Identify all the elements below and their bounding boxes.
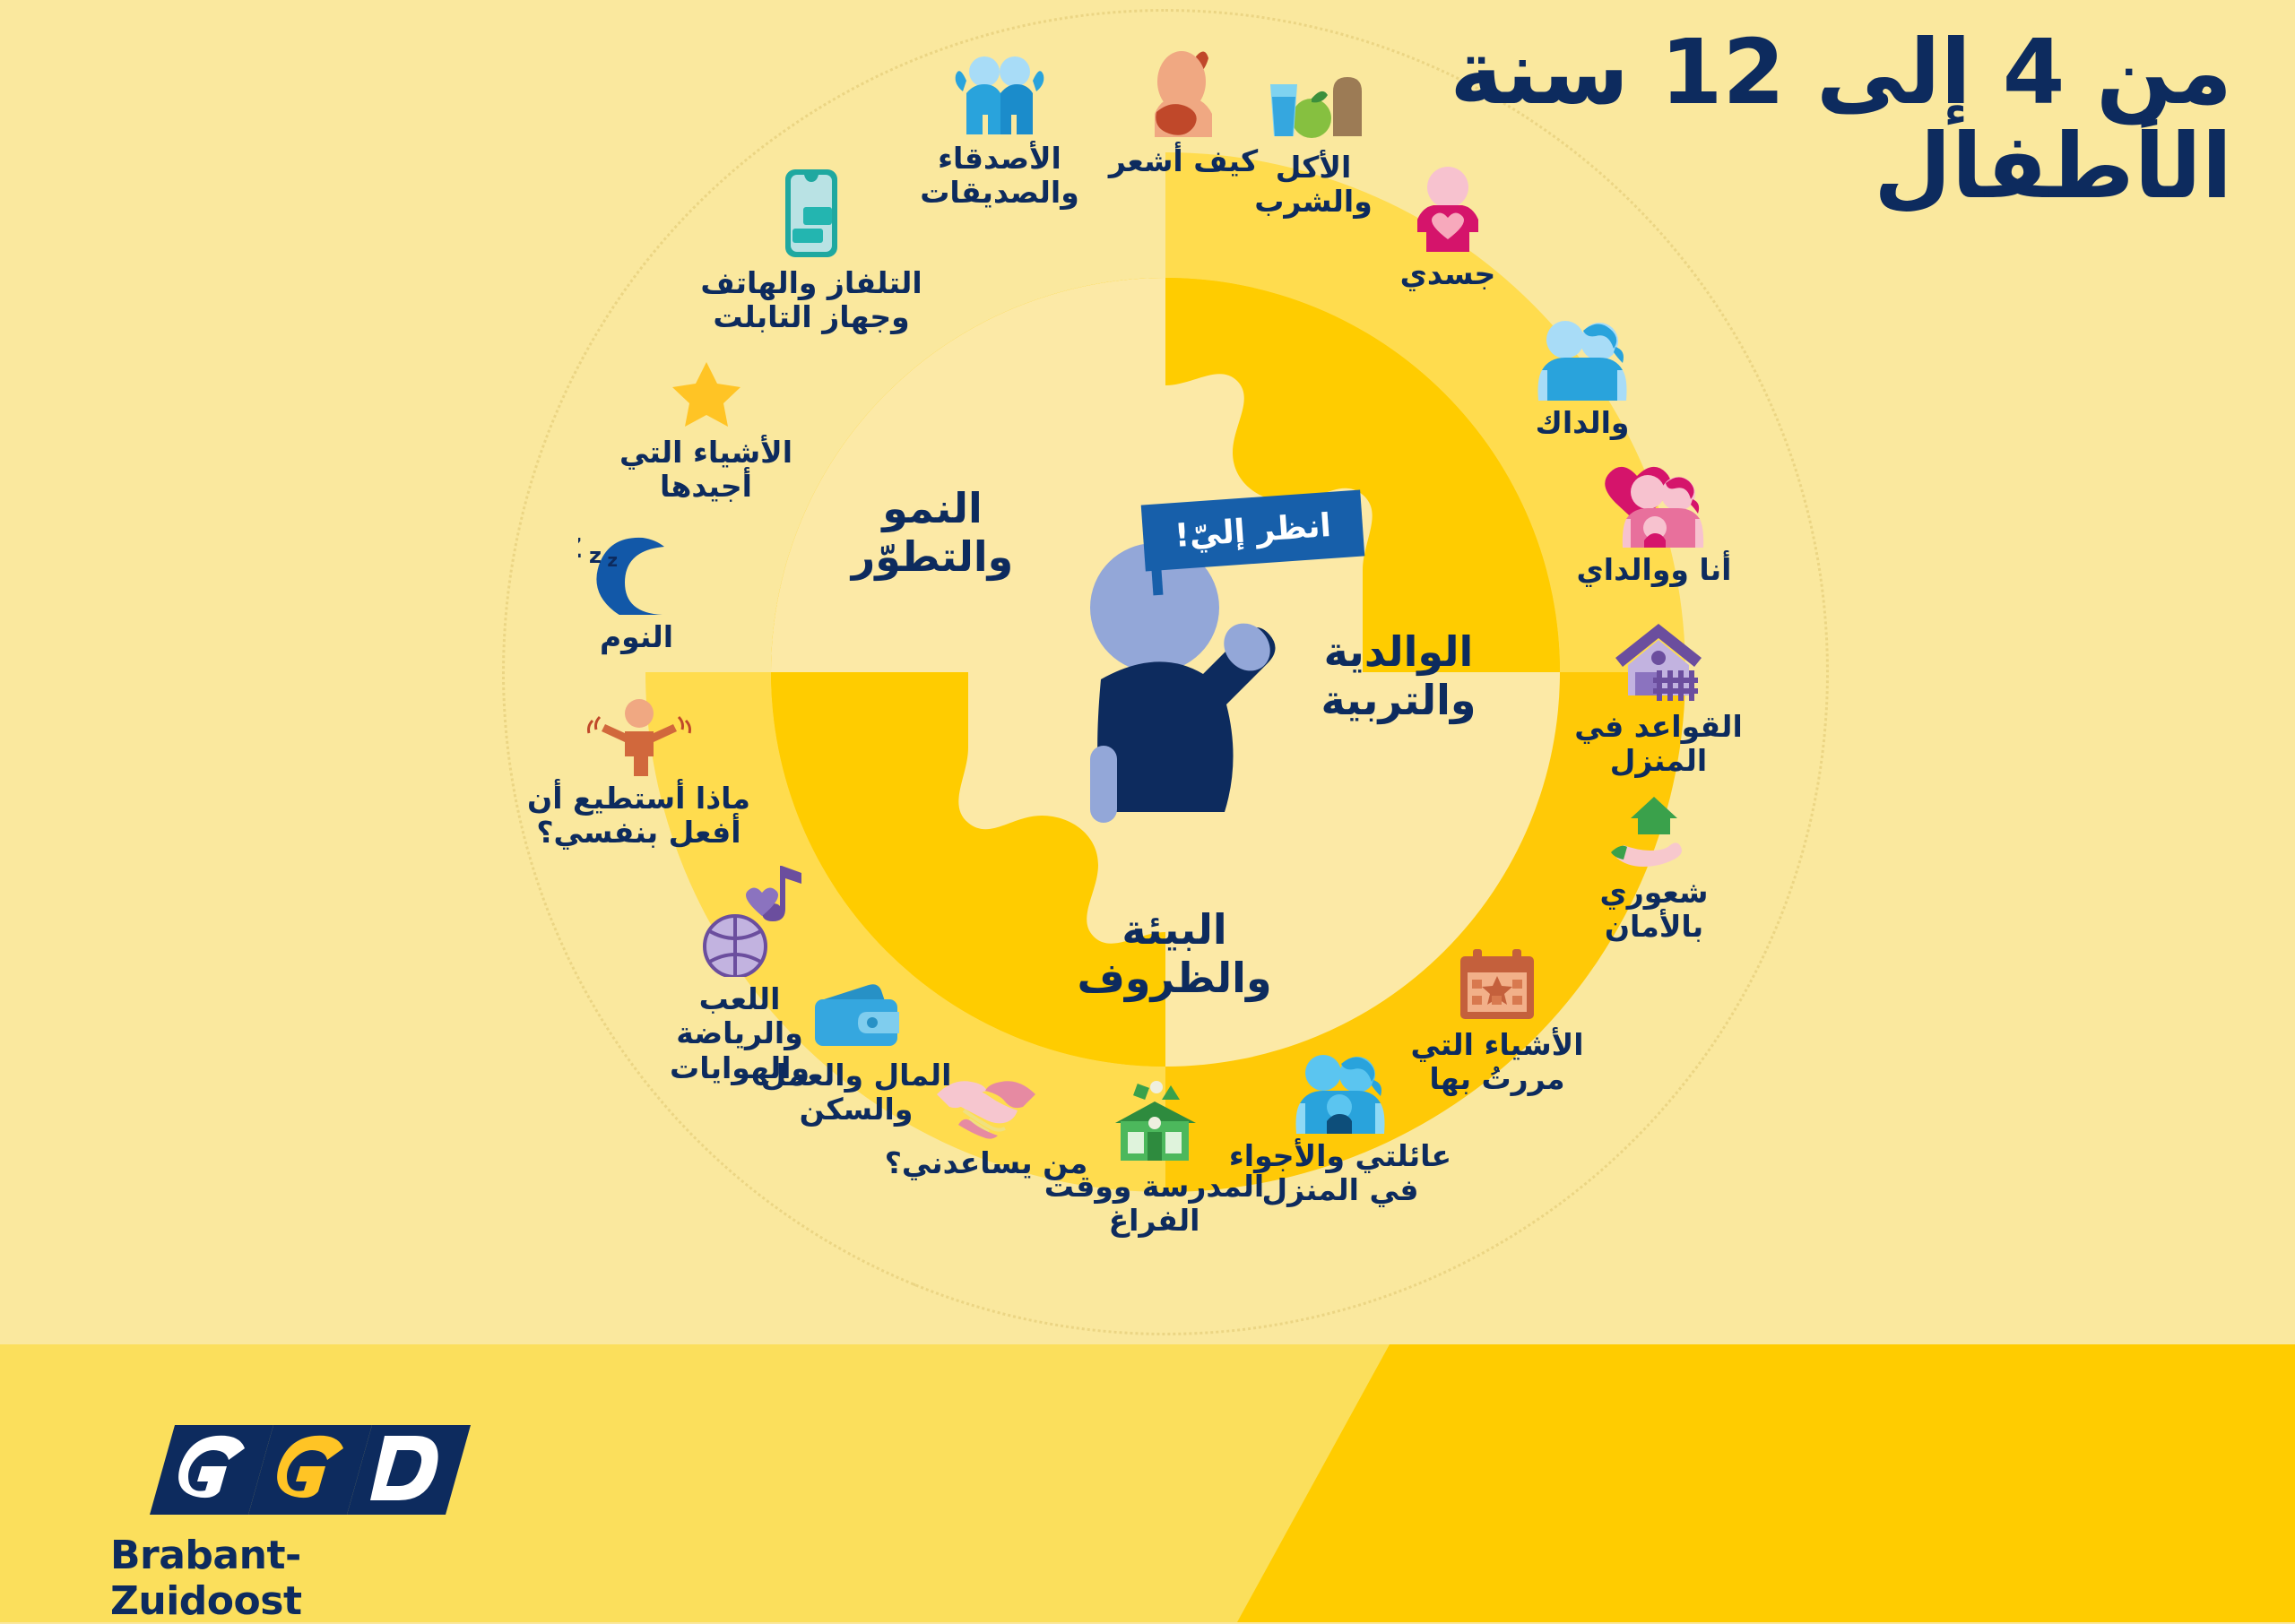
logo-subtitle: Brabant-Zuidoost bbox=[85, 1533, 471, 1624]
spoke-home-rules: القواعد في المنزل bbox=[1524, 618, 1793, 779]
spoke-label: القواعد في المنزل bbox=[1524, 710, 1793, 779]
parents-icon bbox=[1529, 318, 1635, 401]
svg-text:Z: Z bbox=[578, 533, 582, 565]
footer-title: من 4 إلى 12 سنة الأطفال bbox=[905, 25, 2232, 213]
spoke-sleep: Z z z النوم bbox=[551, 529, 722, 654]
family-heart-icon bbox=[1596, 462, 1712, 548]
spoke-safety: شعوري بالأمان bbox=[1560, 793, 1748, 945]
school-icon bbox=[1108, 1080, 1201, 1164]
house-fence-icon bbox=[1612, 618, 1705, 704]
ball-music-heart-icon bbox=[672, 860, 807, 977]
spoke-me-parents: أنا ووالداي bbox=[1551, 462, 1757, 587]
spoke-good-at: الأشياء التي أجيدها bbox=[592, 358, 820, 505]
child-arms-icon bbox=[585, 699, 693, 776]
quadrant-title-environment: البيئة والظروف bbox=[1031, 905, 1318, 1003]
spoke-label: النوم bbox=[600, 620, 673, 654]
moon-zzz-icon: Z z z bbox=[578, 529, 695, 615]
quadrant-title-growth: النمو والتطوّر bbox=[798, 484, 1067, 582]
calendar-star-icon bbox=[1455, 946, 1539, 1023]
spoke-label: اللعب والرياضة والهوايات bbox=[670, 982, 810, 1085]
spoke-label: جسدي bbox=[1400, 257, 1496, 291]
spoke-label: الأشياء التي أجيدها bbox=[619, 436, 792, 505]
spoke-self-do: ماذا أستطيع أن أفعل بنفسي؟ bbox=[507, 699, 771, 851]
spoke-label: ماذا أستطيع أن أفعل بنفسي؟ bbox=[527, 782, 750, 851]
spoke-label: أنا ووالداي bbox=[1577, 553, 1732, 587]
spoke-label: من يساعدني؟ bbox=[885, 1146, 1088, 1180]
tablet-phone-icon bbox=[782, 166, 841, 261]
infographic-canvas: النمو والتطوّر الوالدية والتربية البيئة … bbox=[0, 0, 2295, 1622]
family-three-icon bbox=[1287, 1053, 1393, 1134]
svg-text:z: z bbox=[607, 549, 618, 571]
ggd-logo: Brabant-Zuidoost bbox=[85, 1416, 471, 1624]
footer-wedge bbox=[1237, 1344, 2295, 1622]
svg-text:z: z bbox=[589, 543, 602, 568]
spoke-play-sport: اللعب والرياضة والهوايات bbox=[641, 860, 838, 1085]
spoke-label: والداك bbox=[1536, 406, 1630, 440]
spoke-label: شعوري بالأمان bbox=[1600, 876, 1709, 945]
spoke-label: التلفاز والهاتف وجهاز التابلت bbox=[700, 266, 922, 335]
spoke-parents: والداك bbox=[1488, 318, 1676, 440]
ggd-logo-mark bbox=[148, 1416, 471, 1524]
hand-house-icon bbox=[1607, 793, 1701, 870]
star-icon bbox=[669, 358, 744, 430]
